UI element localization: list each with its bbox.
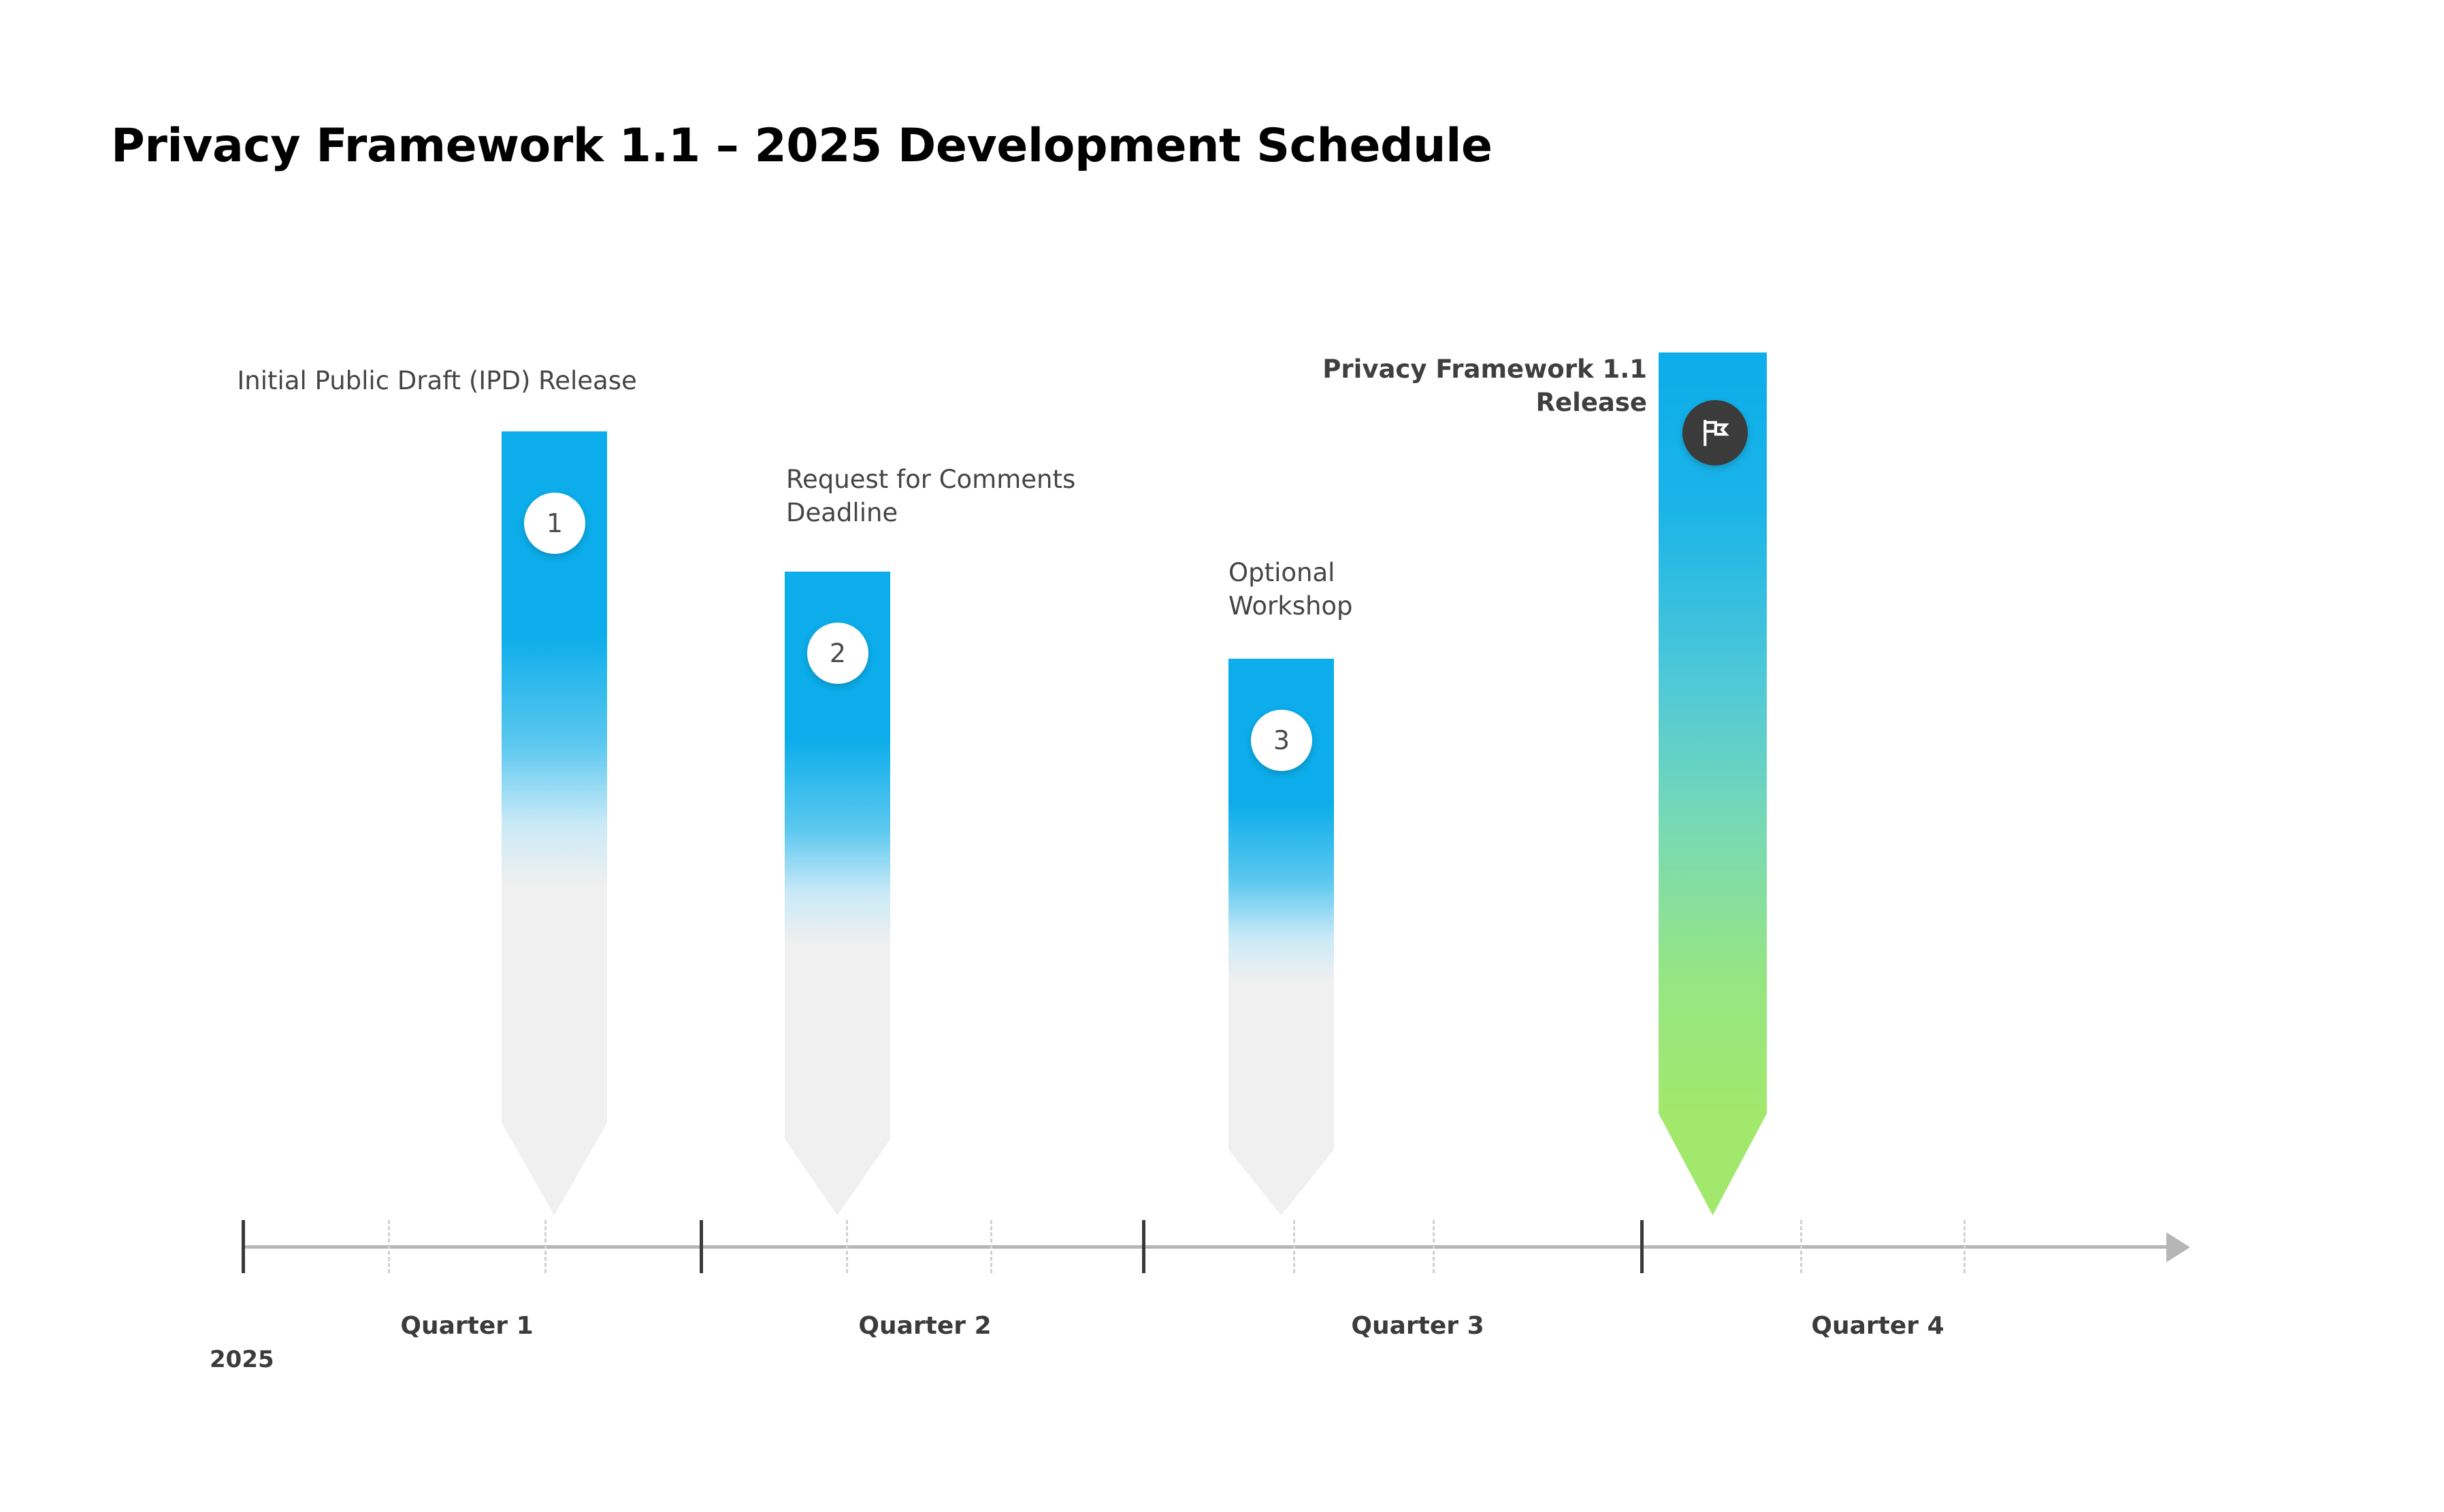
- axis-tick-minor: [1800, 1220, 1802, 1273]
- quarter-label-3: Quarter 3: [1351, 1312, 1484, 1340]
- flag-icon: [1697, 415, 1733, 450]
- milestone-bar-4: [1659, 352, 1767, 1215]
- quarter-label-1: Quarter 1: [400, 1312, 533, 1340]
- axis-tick-minor: [1964, 1220, 1966, 1273]
- axis-tick-minor: [846, 1220, 848, 1273]
- milestone-label-2: Request for Comments Deadline: [786, 463, 1167, 529]
- milestone-label-1: Initial Public Draft (IPD) Release: [237, 364, 754, 397]
- milestone-marker-1[interactable]: 1: [502, 431, 607, 1215]
- milestone-number-3: 3: [1273, 725, 1290, 755]
- axis-tick-major-q4: [1640, 1220, 1644, 1273]
- axis-tick-minor: [544, 1220, 547, 1273]
- quarter-label-4: Quarter 4: [1811, 1312, 1944, 1340]
- milestone-number-2: 2: [830, 638, 846, 668]
- timeline-chart: 1 Initial Public Draft (IPD) Release 2 R…: [0, 0, 2444, 1512]
- milestone-marker-4[interactable]: [1659, 352, 1767, 1215]
- milestone-marker-3[interactable]: 3: [1228, 659, 1334, 1215]
- milestone-number-1: 1: [547, 508, 563, 538]
- timeline-axis-line: [242, 1245, 2168, 1249]
- axis-year-label: 2025: [210, 1346, 274, 1373]
- milestone-marker-2[interactable]: 2: [785, 572, 890, 1215]
- milestone-badge-4[interactable]: [1682, 400, 1748, 465]
- axis-tick-minor: [1293, 1220, 1295, 1273]
- axis-arrow-icon: [2166, 1232, 2190, 1262]
- milestone-badge-3[interactable]: 3: [1251, 710, 1312, 771]
- axis-tick-minor: [990, 1220, 992, 1273]
- milestone-label-3: Optional Workshop: [1228, 556, 1528, 623]
- axis-tick-major-q3: [1142, 1220, 1145, 1273]
- axis-tick-minor: [388, 1220, 390, 1273]
- axis-tick-major-q1: [242, 1220, 245, 1273]
- axis-tick-major-q2: [700, 1220, 703, 1273]
- quarter-label-2: Quarter 2: [858, 1312, 991, 1340]
- milestone-badge-2[interactable]: 2: [807, 623, 868, 684]
- axis-tick-minor: [1433, 1220, 1435, 1273]
- milestone-badge-1[interactable]: 1: [524, 493, 585, 554]
- milestone-label-4: Privacy Framework 1.1 Release: [1157, 352, 1647, 419]
